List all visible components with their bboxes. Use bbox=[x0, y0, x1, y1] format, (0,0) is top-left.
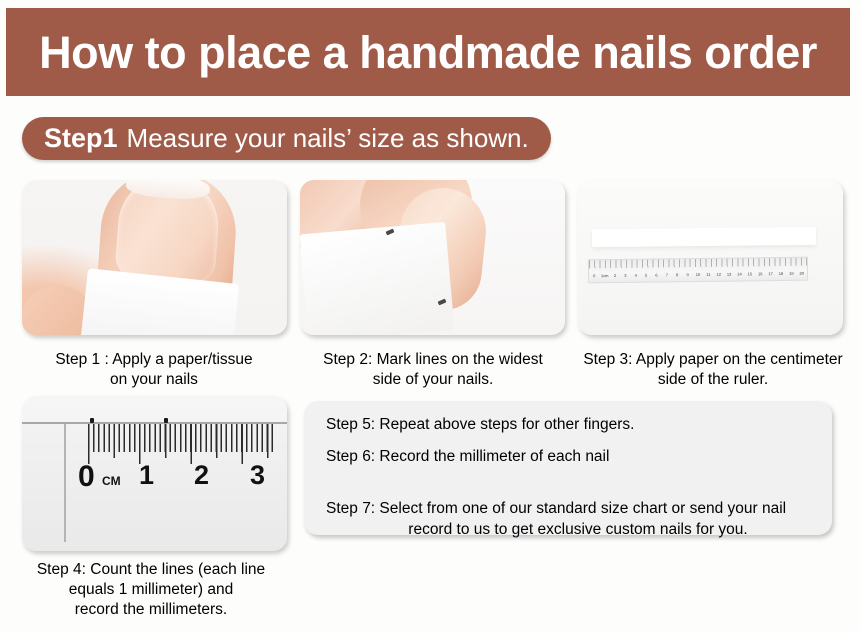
small-ruler-tick-14: 14 bbox=[734, 271, 744, 276]
small-ruler-tick-6: 6 bbox=[651, 272, 661, 277]
ruler-mark-dot-left bbox=[90, 418, 94, 423]
ruler-label-2: 2 bbox=[194, 462, 209, 489]
step1-badge: Step1 Measure your nails’ size as shown. bbox=[22, 117, 551, 160]
ruler-mark-dot-right bbox=[164, 418, 168, 423]
small-ruler-numbers: 0 1cm 2 3 4 5 6 7 8 9 10 11 12 13 14 15 … bbox=[589, 267, 807, 282]
small-ruler-tick-4: 4 bbox=[631, 272, 641, 277]
ruler-label-1: 1 bbox=[139, 462, 154, 489]
small-ruler-tick-3: 3 bbox=[620, 272, 630, 277]
small-ruler-tick-2: 2 bbox=[610, 272, 620, 277]
caption-step-4: Step 4: Count the lines (each line equal… bbox=[6, 560, 296, 619]
step-7-line-1: Step 7: Select from one of our standard … bbox=[326, 500, 786, 517]
step1-badge-label: Step1 bbox=[44, 123, 118, 154]
caption-step-4-line-1: Step 4: Count the lines (each line bbox=[6, 560, 296, 580]
step1-badge-description: Measure your nails’ size as shown. bbox=[127, 123, 529, 154]
small-ruler-tick-8: 8 bbox=[672, 272, 682, 277]
caption-step-1-line-1: Step 1 : Apply a paper/tissue bbox=[8, 350, 300, 370]
caption-step-1-line-2: on your nails bbox=[8, 370, 300, 390]
photo-thumb-with-paper-strip bbox=[22, 180, 287, 335]
caption-step-4-line-2: equals 1 millimeter) and bbox=[6, 580, 296, 600]
title-banner: How to place a handmade nails order bbox=[6, 8, 850, 96]
ruler-zero-label: 0 bbox=[78, 462, 95, 492]
steps-5-7-panel: Step 5: Repeat above steps for other fin… bbox=[304, 401, 832, 535]
caption-step-4-line-3: record the millimeters. bbox=[6, 600, 296, 620]
small-ruler-tick-12: 12 bbox=[714, 271, 724, 276]
caption-step-1: Step 1 : Apply a paper/tissue on your na… bbox=[8, 350, 300, 390]
small-ruler-tick-5: 5 bbox=[641, 272, 651, 277]
paper-strip-flat-shape bbox=[592, 227, 816, 247]
small-ruler-tick-1: 1cm bbox=[599, 273, 609, 278]
small-ruler-tick-18: 18 bbox=[776, 270, 786, 275]
caption-step-3-line-2: side of the ruler. bbox=[572, 370, 854, 390]
photo-fingers-marking-strip bbox=[300, 180, 565, 335]
caption-step-3: Step 3: Apply paper on the centimeter si… bbox=[572, 350, 854, 390]
small-ruler-tick-7: 7 bbox=[662, 272, 672, 277]
small-ruler-tick-19: 19 bbox=[786, 270, 796, 275]
small-ruler-tick-10: 10 bbox=[693, 271, 703, 276]
caption-step-2: Step 2: Mark lines on the widest side of… bbox=[292, 350, 574, 390]
photo-ruler-closeup: 0 CM 1 2 3 bbox=[22, 396, 287, 551]
ruler-left-edge bbox=[64, 424, 66, 542]
small-ruler-tick-15: 15 bbox=[745, 271, 755, 276]
small-ruler-tick-20: 20 bbox=[797, 270, 807, 275]
step-7-line-2: record to us to get exclusive custom nai… bbox=[326, 520, 812, 540]
small-ruler-tick-17: 17 bbox=[765, 271, 775, 276]
small-ruler-shape: 0 1cm 2 3 4 5 6 7 8 9 10 11 12 13 14 15 … bbox=[588, 257, 808, 284]
marked-paper-strip-shape bbox=[300, 222, 454, 335]
small-ruler-tick-16: 16 bbox=[755, 271, 765, 276]
step-7-text: Step 7: Select from one of our standard … bbox=[326, 479, 812, 560]
ruler-unit-label: CM bbox=[102, 475, 121, 487]
step-6-text: Step 6: Record the millimeter of each na… bbox=[326, 447, 812, 467]
photo-strip-over-ruler: 0 1cm 2 3 4 5 6 7 8 9 10 11 12 13 14 15 … bbox=[578, 180, 843, 335]
page-title: How to place a handmade nails order bbox=[39, 30, 817, 75]
ruler-centimeter-ticks bbox=[88, 424, 273, 464]
ruler-label-3: 3 bbox=[250, 462, 265, 489]
small-ruler-tick-11: 11 bbox=[703, 271, 713, 276]
step-5-text: Step 5: Repeat above steps for other fin… bbox=[326, 415, 812, 435]
small-ruler-tick-13: 13 bbox=[724, 271, 734, 276]
small-ruler-tick-9: 9 bbox=[682, 272, 692, 277]
small-ruler-tick-0: 0 bbox=[589, 273, 599, 278]
caption-step-2-line-1: Step 2: Mark lines on the widest bbox=[292, 350, 574, 370]
caption-step-2-line-2: side of your nails. bbox=[292, 370, 574, 390]
caption-step-3-line-1: Step 3: Apply paper on the centimeter bbox=[572, 350, 854, 370]
